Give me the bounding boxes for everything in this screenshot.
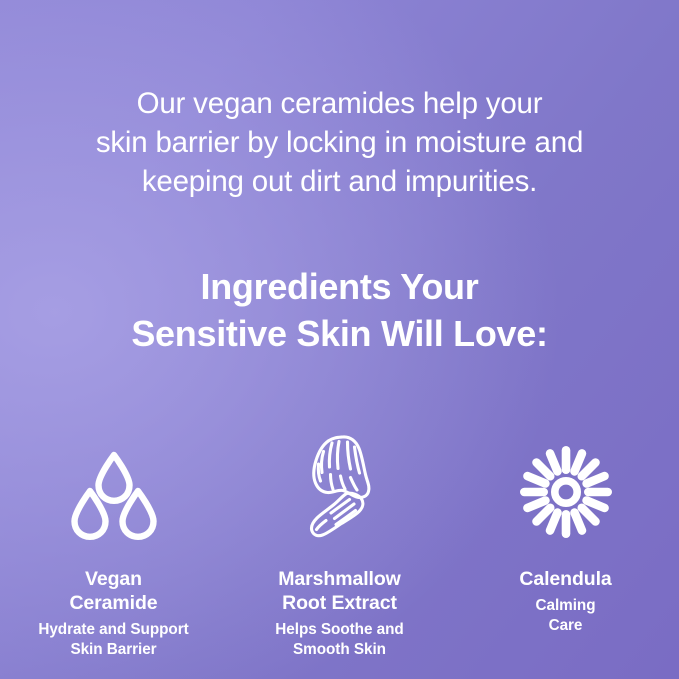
icon-container (68, 429, 160, 541)
ingredient-list: Vegan Ceramide Hydrate and Support Skin … (0, 429, 679, 659)
ingredient-title: Marshmallow Root Extract (278, 567, 400, 615)
ingredient-title: Calendula (519, 567, 611, 591)
ingredient-title: Vegan Ceramide (69, 567, 157, 615)
ingredient-item-vegan-ceramide: Vegan Ceramide Hydrate and Support Skin … (1, 429, 227, 659)
section-heading: Ingredients Your Sensitive Skin Will Lov… (30, 264, 650, 357)
ingredient-description: Hydrate and Support Skin Barrier (38, 620, 188, 659)
icon-container (302, 429, 378, 541)
ingredient-item-marshmallow-root: Marshmallow Root Extract Helps Soothe an… (227, 429, 453, 659)
ingredients-infographic: Our vegan ceramides help your skin barri… (0, 0, 679, 679)
intro-paragraph: Our vegan ceramides help your skin barri… (30, 84, 650, 202)
ingredient-description: Helps Soothe and Smooth Skin (275, 620, 403, 659)
water-droplets-icon (68, 451, 160, 541)
marshmallow-root-icon (302, 433, 378, 541)
ingredient-item-calendula: Calendula Calming Care (453, 429, 679, 635)
icon-container (517, 429, 615, 541)
ingredient-description: Calming Care (536, 596, 596, 635)
calendula-flower-icon (517, 443, 615, 541)
